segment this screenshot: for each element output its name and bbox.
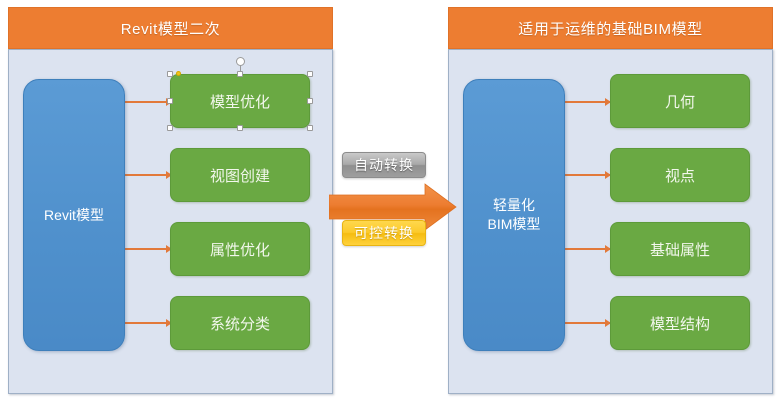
selection-handle-top-right[interactable] <box>307 71 313 77</box>
lightweight-bim-model-box[interactable]: 轻量化 BIM模型 <box>463 79 565 351</box>
left-item-label-1: 模型优化 <box>210 91 270 112</box>
revit-model-box[interactable]: Revit模型 <box>23 79 125 351</box>
right-item-box-4[interactable]: 模型结构 <box>610 296 750 350</box>
auto-convert-text: 自动转换 <box>354 155 414 175</box>
connector-left-4 <box>124 322 171 324</box>
right-item-box-2[interactable]: 视点 <box>610 148 750 202</box>
left-item-label-2: 视图创建 <box>210 165 270 186</box>
connector-right-4 <box>563 322 610 324</box>
lightweight-bim-label-line1: 轻量化 <box>493 196 535 215</box>
connector-right-2 <box>563 174 610 176</box>
connector-right-3 <box>563 248 610 250</box>
selection-handle-top-left[interactable] <box>167 71 173 77</box>
left-item-label-3: 属性优化 <box>210 239 270 260</box>
selection-handle-bottom-right[interactable] <box>307 125 313 131</box>
left-item-label-4: 系统分类 <box>210 313 270 334</box>
selection-handle-middle-right[interactable] <box>307 98 313 104</box>
right-item-label-3: 基础属性 <box>650 239 710 260</box>
auto-convert-label[interactable]: 自动转换 <box>342 152 426 178</box>
selection-handle-bottom-left[interactable] <box>167 125 173 131</box>
connector-left-1 <box>124 101 171 103</box>
connector-left-3 <box>124 248 171 250</box>
connector-left-2 <box>124 174 171 176</box>
left-item-box-4[interactable]: 系统分类 <box>170 296 310 350</box>
selection-handle-top-center[interactable] <box>237 71 243 77</box>
left-item-box-2[interactable]: 视图创建 <box>170 148 310 202</box>
right-item-label-1: 几何 <box>665 91 695 112</box>
rotation-handle[interactable] <box>236 57 245 66</box>
shape-adjust-handle[interactable] <box>176 71 181 76</box>
left-item-box-1[interactable]: 模型优化 <box>170 74 310 128</box>
right-item-label-2: 视点 <box>665 165 695 186</box>
right-panel-title: 适用于运维的基础BIM模型 <box>518 18 702 39</box>
lightweight-bim-label-line2: BIM模型 <box>488 215 541 234</box>
right-item-box-3[interactable]: 基础属性 <box>610 222 750 276</box>
controlled-convert-text: 可控转换 <box>354 223 414 243</box>
right-item-box-1[interactable]: 几何 <box>610 74 750 128</box>
connector-right-1 <box>563 101 610 103</box>
right-panel-header: 适用于运维的基础BIM模型 <box>448 7 773 49</box>
revit-model-label: Revit模型 <box>44 206 104 225</box>
left-panel-title: Revit模型二次 <box>121 18 221 39</box>
left-panel-header: Revit模型二次 <box>8 7 333 49</box>
diagram-canvas: Revit模型二次 Revit模型 模型优化 视图创建 属性优化 系统分类 自动… <box>0 0 780 407</box>
selection-handle-middle-left[interactable] <box>167 98 173 104</box>
left-item-box-3[interactable]: 属性优化 <box>170 222 310 276</box>
selection-handle-bottom-center[interactable] <box>237 125 243 131</box>
right-item-label-4: 模型结构 <box>650 313 710 334</box>
controlled-convert-label[interactable]: 可控转换 <box>342 220 426 246</box>
